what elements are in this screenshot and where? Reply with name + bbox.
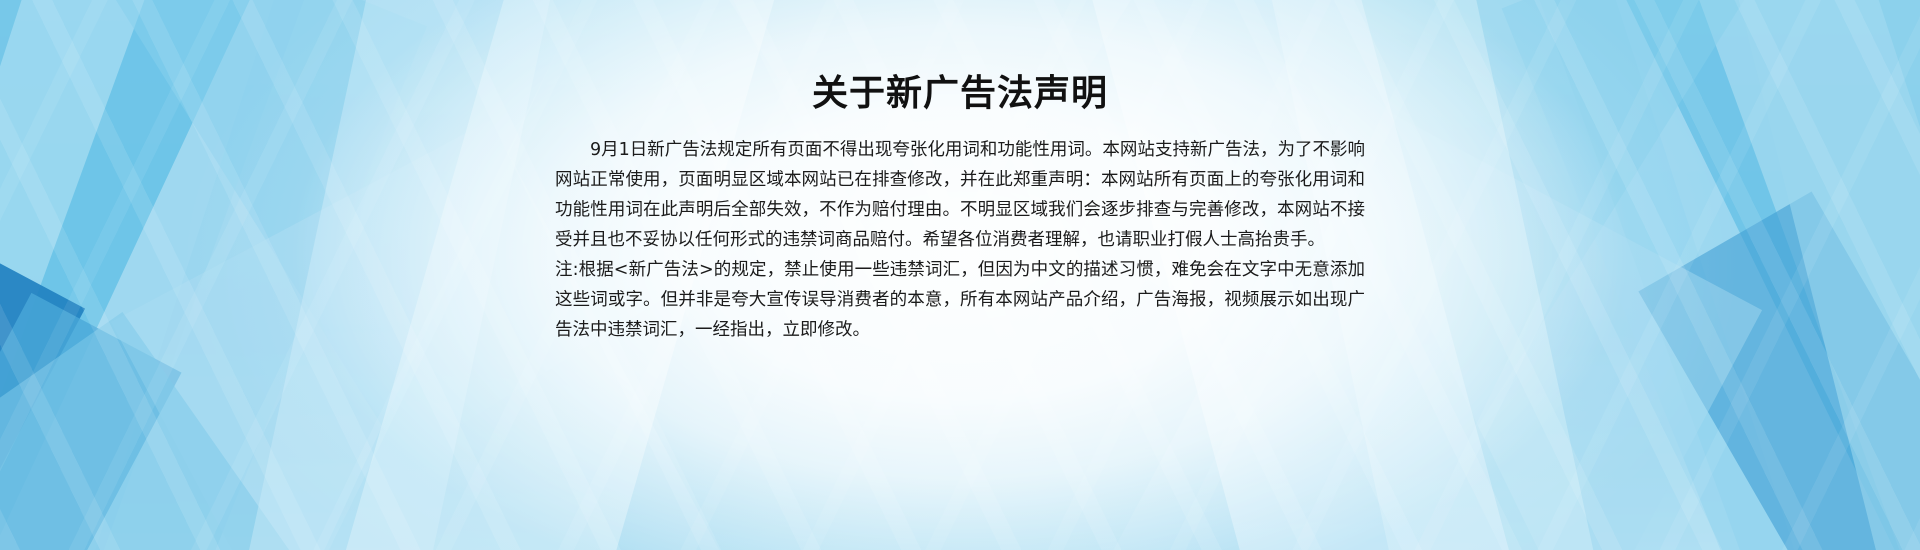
statement-paragraph-note: 注:根据<新广告法>的规定，禁止使用一些违禁词汇，但因为中文的描述习惯，难免会在… (555, 255, 1365, 345)
statement-content: 关于新广告法声明 9月1日新广告法规定所有页面不得出现夸张化用词和功能性用词。本… (555, 72, 1365, 345)
page-title: 关于新广告法声明 (555, 72, 1365, 115)
advertising-law-statement-banner: 关于新广告法声明 9月1日新广告法规定所有页面不得出现夸张化用词和功能性用词。本… (0, 0, 1920, 550)
statement-paragraph-main: 9月1日新广告法规定所有页面不得出现夸张化用词和功能性用词。本网站支持新广告法，… (555, 135, 1365, 255)
